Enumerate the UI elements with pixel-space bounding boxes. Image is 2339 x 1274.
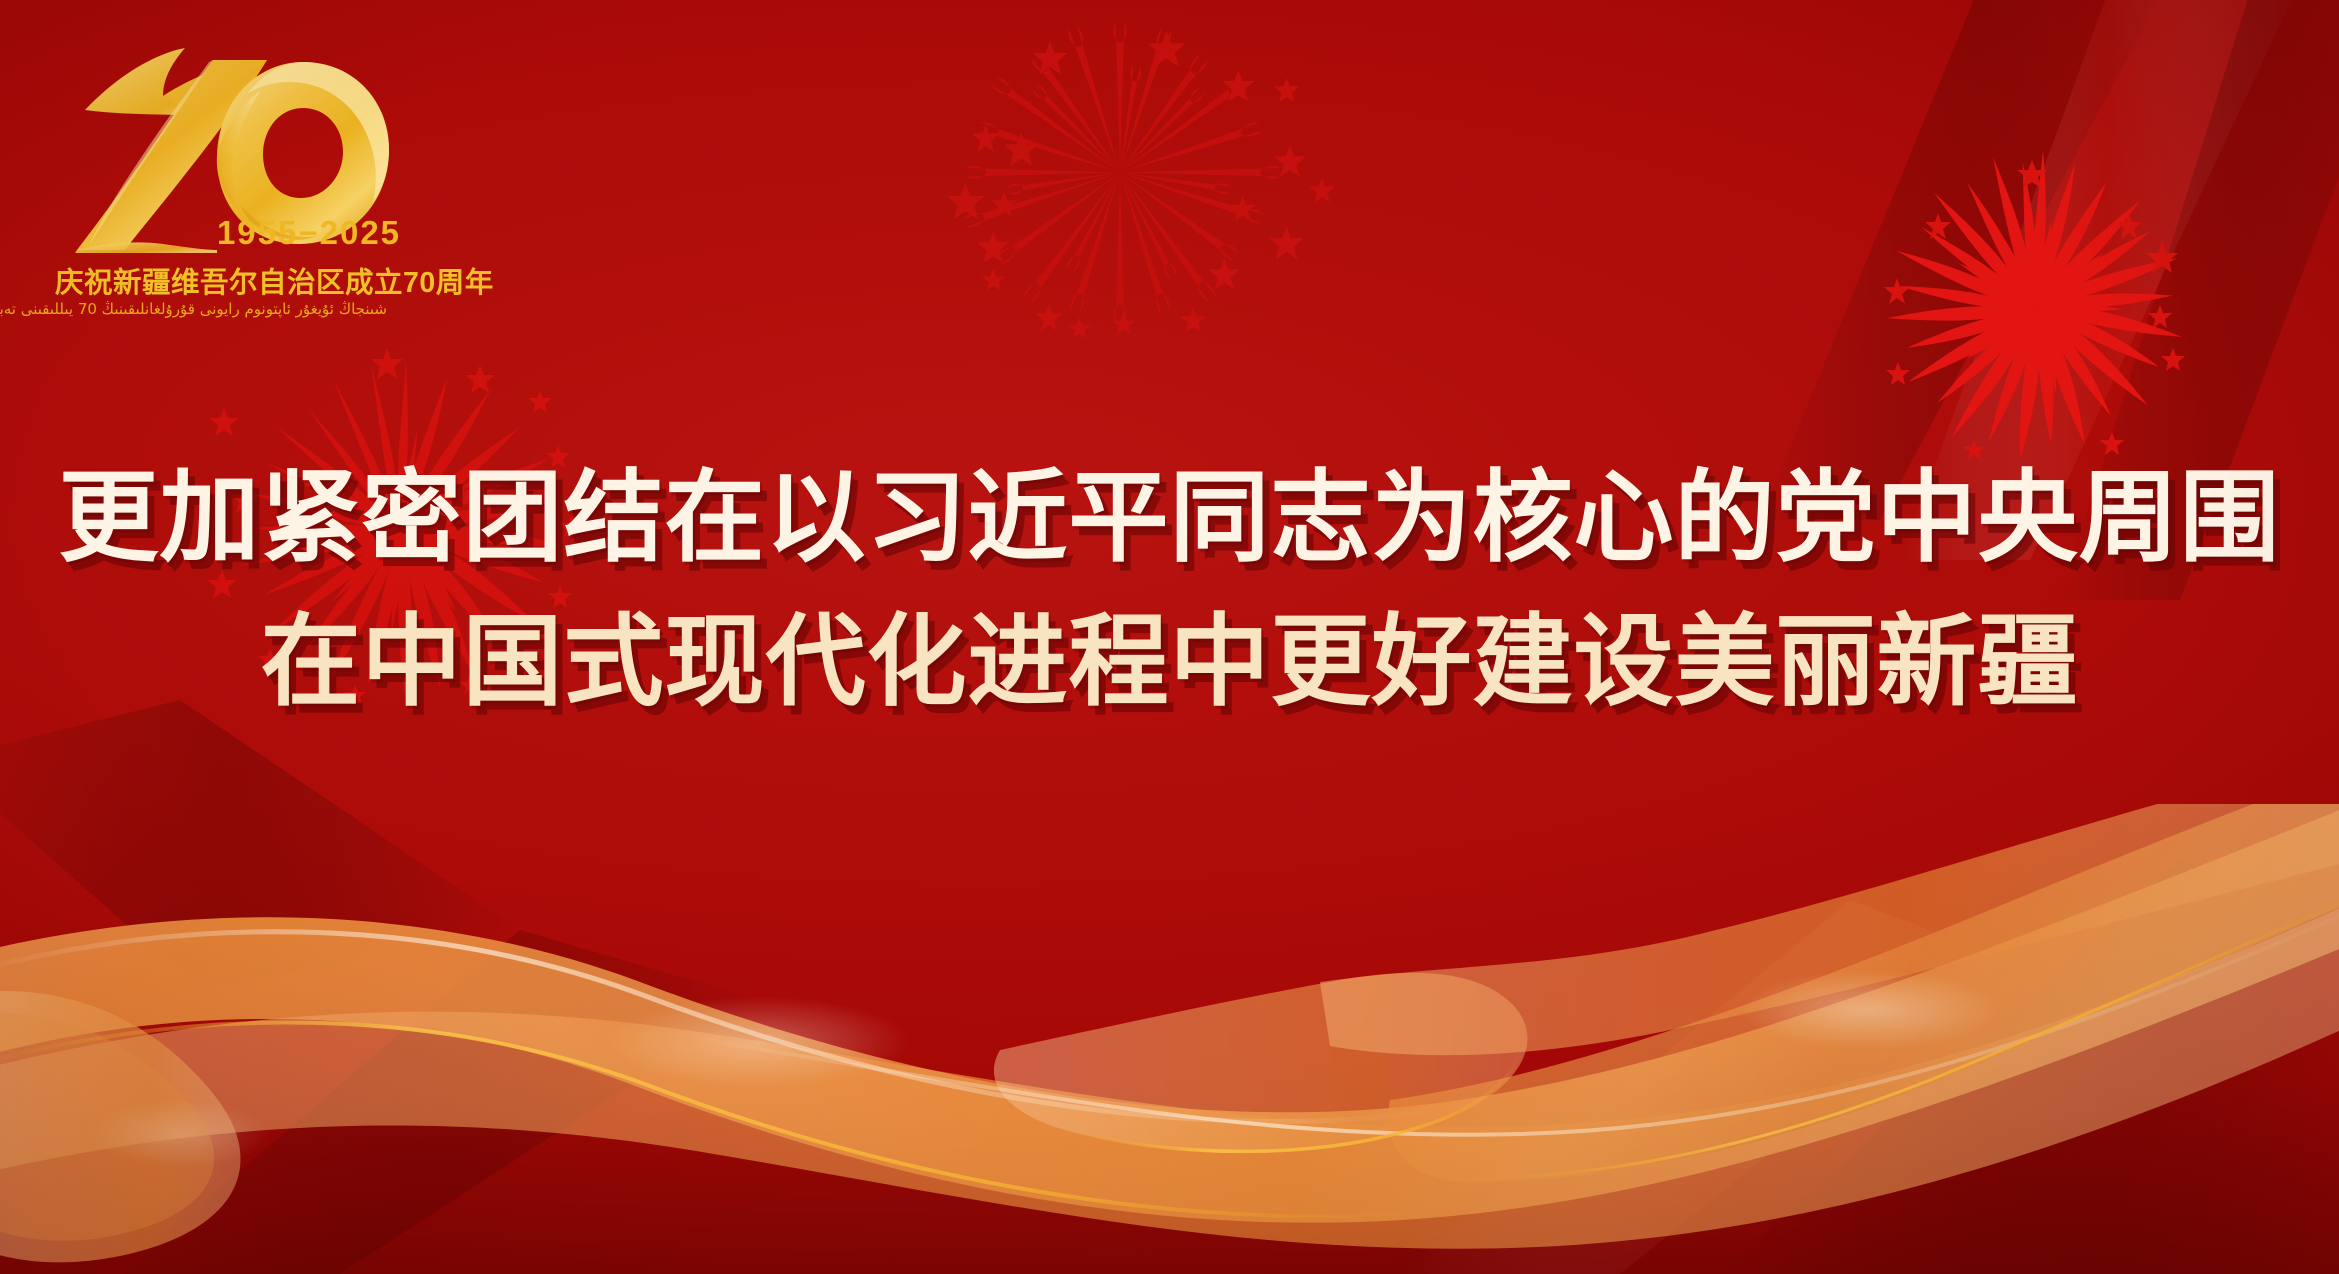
headline-line-2: 在中国式现代化进程中更好建设美丽新疆 <box>0 596 2339 726</box>
firework-burst-icon-top-center <box>905 10 1335 410</box>
emblem-years-label: 1955−2025 <box>55 214 445 252</box>
anniversary-emblem: 1955−2025 庆祝新疆维吾尔自治区成立70周年 شىنجاڭ ئۇيغۇر… <box>55 38 445 383</box>
headline-slogan: 更加紧密团结在以习近平同志为核心的党中央周围 在中国式现代化进程中更好建设美丽新… <box>0 452 2339 726</box>
emblem-uyghur-label: شىنجاڭ ئۇيغۇر ئاپتونوم رايونى قۇرۇلغانلى… <box>55 300 387 318</box>
flowing-ribbon-wave <box>0 804 2339 1274</box>
celebration-banner: 1955−2025 庆祝新疆维吾尔自治区成立70周年 شىنجاڭ ئۇيغۇر… <box>0 0 2339 1274</box>
emblem-chinese-label: 庆祝新疆维吾尔自治区成立70周年 <box>55 260 387 301</box>
firework-burst-icon-right <box>1840 130 2280 490</box>
headline-line-1: 更加紧密团结在以习近平同志为核心的党中央周围 <box>0 452 2339 582</box>
